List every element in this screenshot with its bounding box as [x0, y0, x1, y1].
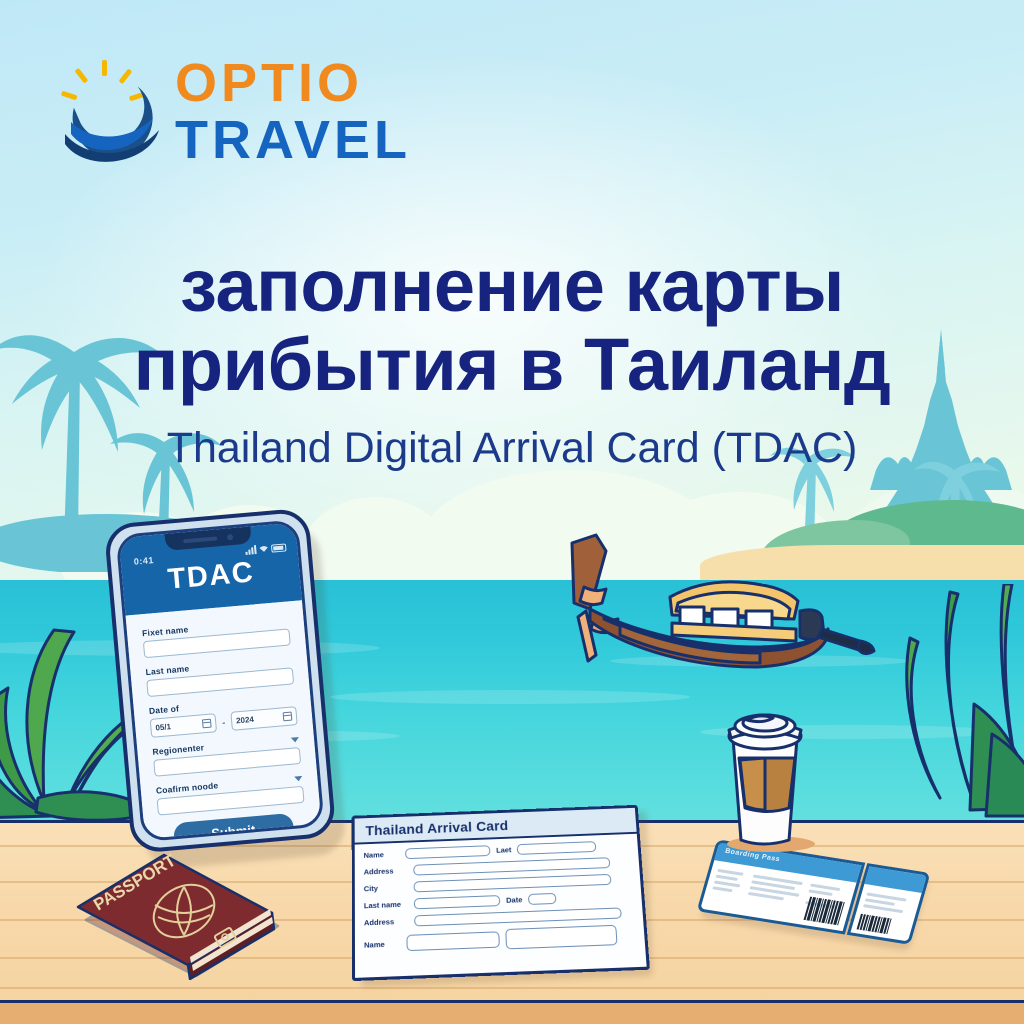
row-label-2: Date: [506, 895, 523, 905]
row-label: Address: [364, 917, 408, 928]
poster-canvas: OPTIO TRAVEL заполнение карты прибытия в…: [0, 0, 1024, 1024]
tdac-form: Fixet name Last name Date of 05/1 - 2024: [126, 600, 322, 839]
card-body: Thailand Arrival Card Name Laet Address …: [352, 805, 650, 981]
date-day-input[interactable]: 05/1: [150, 713, 217, 738]
row-label: Address: [364, 866, 408, 877]
date-separator: -: [222, 717, 226, 727]
row-label-2: Laet: [496, 845, 512, 854]
date-day-value: 05/1: [155, 722, 171, 732]
tropical-leaf-icon: [896, 584, 1024, 834]
wifi-icon: [259, 545, 269, 553]
arrival-card[interactable]: Thailand Arrival Card Name Laet Address …: [349, 802, 656, 993]
row-field[interactable]: [414, 895, 500, 909]
headline-line-2: прибытия в Таиланд: [0, 325, 1024, 404]
battery-icon: [271, 543, 287, 552]
page-title: заполнение карты прибытия в Таиланд: [0, 246, 1024, 404]
row-label: Name: [364, 939, 400, 950]
chevron-down-icon[interactable]: [294, 775, 302, 781]
card-row: Name: [364, 924, 636, 955]
row-field[interactable]: [413, 857, 610, 875]
row-label: Name: [364, 850, 400, 860]
card-title: Thailand Arrival Card: [365, 817, 508, 838]
row-field[interactable]: [405, 845, 490, 859]
brand-wordmark: OPTIO TRAVEL: [175, 56, 411, 169]
row-field[interactable]: [414, 874, 612, 892]
row-field[interactable]: [406, 931, 499, 951]
calendar-icon[interactable]: [202, 719, 212, 729]
region-label: Regionenter: [152, 742, 204, 756]
row-field-2[interactable]: [528, 893, 557, 905]
table-edge: [0, 1000, 1024, 1024]
signal-bars-icon: [245, 545, 257, 555]
calendar-icon[interactable]: [283, 712, 293, 722]
submit-button[interactable]: Submit: [172, 813, 294, 842]
date-year-input[interactable]: 2024: [230, 706, 297, 731]
phone-mockup: 0:41 TDAC Fixet name Last name: [104, 506, 353, 864]
brand-name-top: OPTIO: [175, 56, 411, 110]
row-label: City: [364, 883, 408, 894]
row-field[interactable]: [414, 907, 622, 926]
phone-body: 0:41 TDAC Fixet name Last name: [104, 507, 337, 854]
page-subtitle: Thailand Digital Arrival Card (TDAC): [0, 425, 1024, 472]
barcode-icon: [804, 897, 845, 926]
row-label: Last name: [364, 900, 408, 911]
row-field-2[interactable]: [505, 925, 617, 950]
brand-logo[interactable]: OPTIO TRAVEL: [57, 52, 377, 177]
chevron-down-icon[interactable]: [291, 737, 299, 743]
passport[interactable]: PASSPORT: [38, 845, 288, 980]
date-year-value: 2024: [236, 715, 255, 726]
barcode-icon: [857, 914, 892, 934]
headline-line-1: заполнение карты: [180, 244, 844, 327]
phone-notch: [164, 526, 251, 550]
row-field-2[interactable]: [517, 841, 597, 855]
phone-screen: 0:41 TDAC Fixet name Last name: [116, 519, 325, 842]
card-rows: Name Laet Address City Last name Date: [355, 834, 645, 955]
longtail-boat-icon: [560, 525, 890, 705]
coffee-cup-icon[interactable]: [709, 700, 821, 852]
sun-wave-circle-icon: [57, 60, 169, 170]
boarding-pass[interactable]: Boarding Pass: [705, 855, 935, 965]
brand-name-bottom: TRAVEL: [175, 112, 411, 169]
